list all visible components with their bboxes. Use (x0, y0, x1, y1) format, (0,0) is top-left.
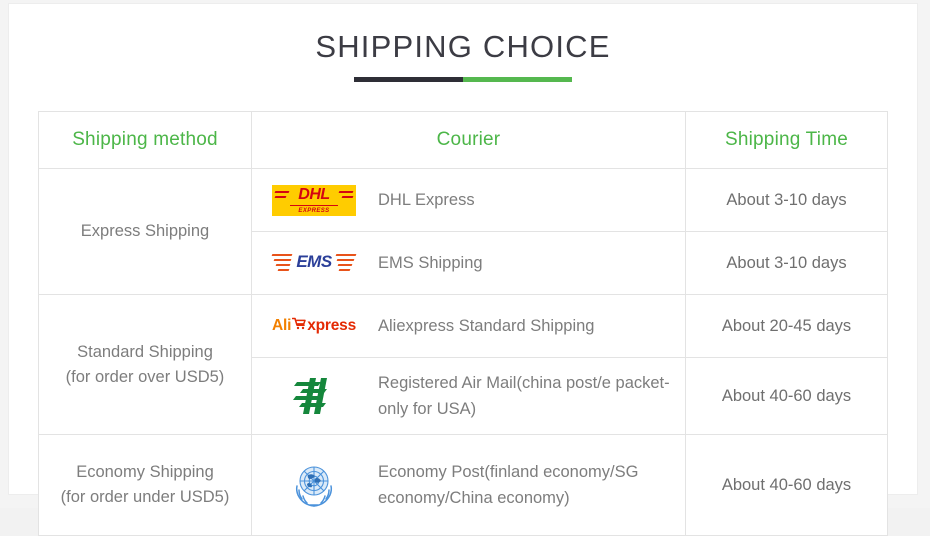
method-label: Economy Shipping (47, 460, 243, 485)
ems-logo: EMS (266, 239, 362, 287)
dhl-logo-subtext: EXPRESS (272, 208, 356, 214)
china-post-logo (266, 372, 362, 420)
aliexpress-logo-suffix: xpress (307, 317, 356, 335)
courier-name: Economy Post(finland economy/SG economy/… (362, 459, 675, 511)
shipping-time: About 40-60 days (686, 358, 888, 435)
shipping-method-express: Express Shipping (39, 169, 252, 295)
page-header: SHIPPING CHOICE (9, 28, 917, 82)
shipping-time: About 3-10 days (686, 169, 888, 232)
shopping-cart-icon (292, 317, 306, 335)
courier-name: EMS Shipping (362, 250, 483, 276)
underline-dark-segment (354, 77, 463, 82)
underline-green-segment (463, 77, 572, 82)
method-label-note: (for order over USD5) (47, 365, 243, 390)
courier-name: Aliexpress Standard Shipping (362, 313, 594, 339)
column-header-shipping-method: Shipping method (39, 112, 252, 169)
table-body: Express Shipping DHL EXPRESS (39, 169, 888, 536)
page-title: SHIPPING CHOICE (9, 28, 917, 66)
shipping-time: About 20-45 days (686, 295, 888, 358)
shipping-time: About 3-10 days (686, 232, 888, 295)
column-header-shipping-time: Shipping Time (686, 112, 888, 169)
title-underline (354, 77, 572, 82)
shipping-table: Shipping method Courier Shipping Time Ex… (38, 111, 888, 536)
shipping-method-standard: Standard Shipping (for order over USD5) (39, 295, 252, 435)
page-background: SHIPPING CHOICE Shipping method Courier … (0, 0, 930, 508)
method-label: Standard Shipping (47, 340, 243, 365)
ems-logo-text: EMS (272, 252, 356, 272)
table-row: Standard Shipping (for order over USD5) … (39, 295, 888, 358)
column-header-courier: Courier (252, 112, 686, 169)
shipping-method-economy: Economy Shipping (for order under USD5) (39, 435, 252, 536)
aliexpress-logo: Ali xpress (266, 302, 362, 350)
table-row: Express Shipping DHL EXPRESS (39, 169, 888, 232)
dhl-logo-text: DHL (272, 186, 356, 204)
courier-cell-china-post: Registered Air Mail(china post/e packet-… (252, 358, 686, 435)
courier-cell-ems: EMS EMS Shipping (252, 232, 686, 295)
method-label-note: (for order under USD5) (47, 485, 243, 510)
courier-cell-aliexpress: Ali xpress (252, 295, 686, 358)
courier-cell-dhl: DHL EXPRESS DHL Express (252, 169, 686, 232)
method-label: Express Shipping (81, 222, 209, 240)
shipping-choice-card: SHIPPING CHOICE Shipping method Courier … (8, 3, 918, 495)
courier-name: Registered Air Mail(china post/e packet-… (362, 370, 675, 422)
table-row: Economy Shipping (for order under USD5) (39, 435, 888, 536)
courier-name: DHL Express (362, 187, 475, 213)
shipping-time: About 40-60 days (686, 435, 888, 536)
united-nations-logo (266, 461, 362, 509)
table-header-row: Shipping method Courier Shipping Time (39, 112, 888, 169)
table-header: Shipping method Courier Shipping Time (39, 112, 888, 169)
aliexpress-logo-prefix: Ali (272, 317, 291, 335)
dhl-logo: DHL EXPRESS (266, 176, 362, 224)
courier-cell-economy-post: Economy Post(finland economy/SG economy/… (252, 435, 686, 536)
